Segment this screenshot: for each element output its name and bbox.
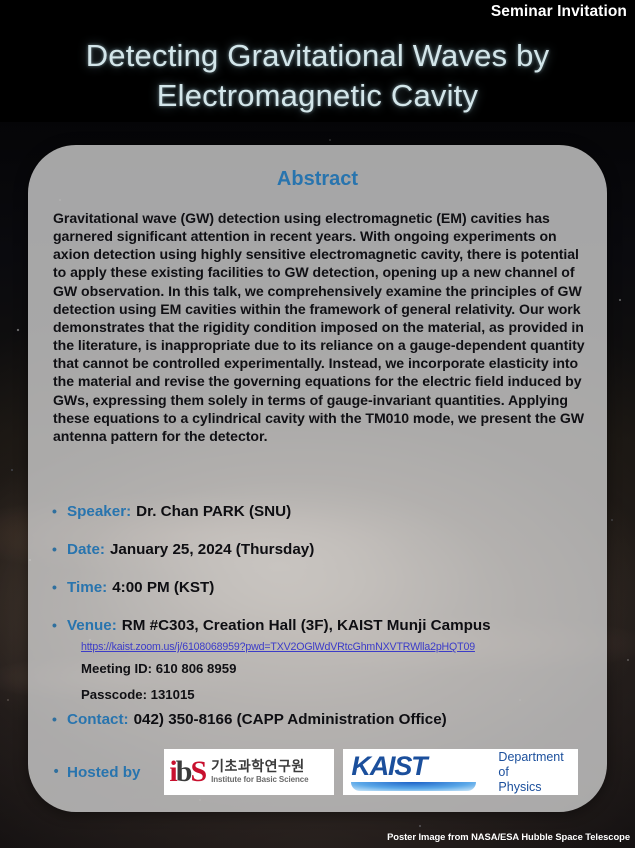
detail-value-date: January 25, 2024 (Thursday) [110,541,314,558]
kaist-logo: KAIST Department of Physics [343,749,578,795]
zoom-passcode: Passcode: 131015 [81,687,195,702]
detail-value-speaker: Dr. Chan PARK (SNU) [136,503,291,520]
info-card: Abstract Gravitational wave (GW) detecti… [28,145,607,812]
page-title-line2: Electromagnetic Cavity [0,76,635,116]
detail-value-time: 4:00 PM (KST) [112,579,214,596]
zoom-meeting-link[interactable]: https://kaist.zoom.us/j/6108068959?pwd=T… [81,641,475,653]
kaist-dept-line1: Department of [498,750,563,779]
page-title-line1: Detecting Gravitational Waves by [86,38,550,73]
ibs-logo: ibS 기초과학연구원 Institute for Basic Science [164,749,334,795]
seminar-kicker: Seminar Invitation [491,3,627,21]
bullet-icon: • [52,580,67,594]
bullet-icon: • [52,542,67,556]
ibs-name-english: Institute for Basic Science [211,775,308,785]
kaist-department-text: Department of Physics [498,750,573,795]
detail-row-venue: • Venue: RM #C303, Creation Hall (3F), K… [52,617,597,634]
detail-label-venue: Venue: [67,617,117,634]
detail-label-speaker: Speaker: [67,503,131,520]
kaist-wordmark-icon: KAIST [351,753,476,791]
detail-label-time: Time: [67,579,107,596]
ibs-mark-s: S [190,755,205,788]
ibs-name-korean: 기초과학연구원 [211,759,308,775]
detail-row-contact: • Contact: 042) 350-8166 (CAPP Administr… [52,711,447,728]
kaist-swoosh-icon [351,782,476,791]
detail-label-contact: Contact: [67,711,129,728]
detail-label-date: Date: [67,541,105,558]
ibs-wordmark-icon: ibS [169,757,205,787]
ibs-mark-b: b [176,755,191,788]
abstract-text: Gravitational wave (GW) detection using … [53,209,586,445]
bullet-icon: • [52,764,67,780]
bullet-icon: • [52,618,67,632]
kaist-dept-line2: Physics [498,780,541,794]
detail-row-date: • Date: January 25, 2024 (Thursday) [52,541,597,558]
event-details-list: • Speaker: Dr. Chan PARK (SNU) • Date: J… [52,503,597,655]
hosted-by-row: • Hosted by ibS 기초과학연구원 Institute for Ba… [52,749,578,795]
info-card-body: Abstract Gravitational wave (GW) detecti… [28,145,607,812]
abstract-heading: Abstract [28,168,607,191]
image-credit: Poster Image from NASA/ESA Hubble Space … [387,831,630,842]
zoom-meeting-id: Meeting ID: 610 806 8959 [81,661,236,676]
detail-row-time: • Time: 4:00 PM (KST) [52,579,597,596]
ibs-logo-text: 기초과학연구원 Institute for Basic Science [211,759,308,785]
detail-value-contact: 042) 350-8166 (CAPP Administration Offic… [134,711,447,728]
hosted-by-label: Hosted by [67,764,140,781]
page-title: Detecting Gravitational Waves by Electro… [0,36,635,116]
seminar-poster: Seminar Invitation Detecting Gravitation… [0,0,635,848]
bullet-icon: • [52,504,67,518]
bullet-icon: • [52,711,67,727]
header-band: Seminar Invitation Detecting Gravitation… [0,0,635,122]
detail-row-speaker: • Speaker: Dr. Chan PARK (SNU) [52,503,597,520]
detail-value-venue: RM #C303, Creation Hall (3F), KAIST Munj… [122,617,491,634]
kaist-mark-text: KAIST [351,753,476,780]
